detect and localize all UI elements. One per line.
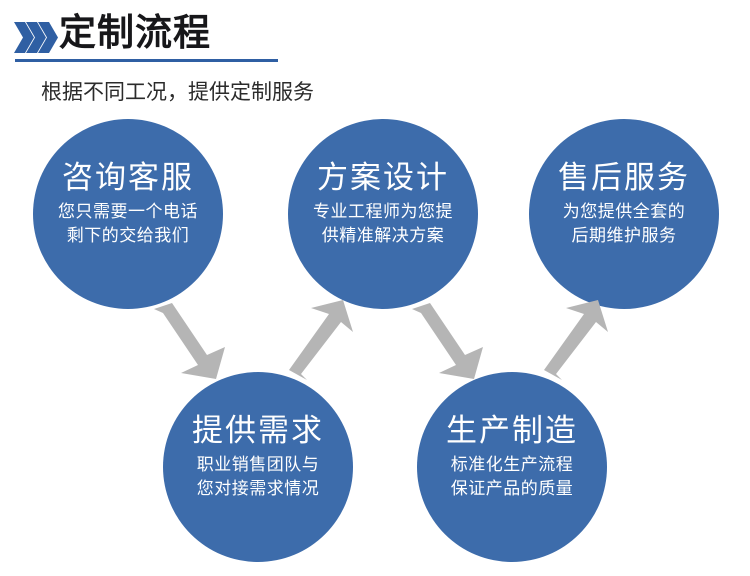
flow-step-desc-line: 标准化生产流程 (446, 453, 578, 477)
flow-step-desc-line: 您对接需求情况 (192, 477, 324, 501)
flow-step-content: 方案设计 专业工程师为您提 供精准解决方案 (313, 159, 453, 248)
flow-step-title: 生产制造 (446, 412, 578, 450)
flow-step-content: 提供需求 职业销售团队与 您对接需求情况 (192, 412, 324, 501)
page-title: 定制流程 (59, 9, 211, 57)
arrow-down-right-icon (408, 303, 488, 384)
section-header: 定制流程 根据不同工况，提供定制服务 (0, 0, 750, 112)
flow-step-title: 咨询客服 (58, 159, 198, 197)
flow-step-scheme-design[interactable]: 方案设计 专业工程师为您提 供精准解决方案 (288, 119, 478, 309)
title-underline (15, 59, 278, 62)
flow-step-desc-line: 为您提供全套的 (558, 200, 690, 224)
flow-step-desc-line: 职业销售团队与 (192, 453, 324, 477)
flow-step-title: 提供需求 (192, 412, 324, 450)
infographic-canvas: 定制流程 根据不同工况，提供定制服务 咨询客服 您只需要一个电话 剩下的交给我们… (0, 0, 750, 576)
arrow-up-right-icon (285, 300, 365, 385)
flow-step-production-manufacturing[interactable]: 生产制造 标准化生产流程 保证产品的质量 (417, 372, 607, 562)
flow-step-title: 售后服务 (558, 159, 690, 197)
flow-step-desc-line: 您只需要一个电话 (58, 200, 198, 224)
flow-step-desc-line: 专业工程师为您提 (313, 200, 453, 224)
page-subtitle: 根据不同工况，提供定制服务 (41, 78, 314, 108)
flow-step-title: 方案设计 (313, 159, 453, 197)
flow-step-content: 售后服务 为您提供全套的 后期维护服务 (558, 159, 690, 248)
arrow-down-right-icon (150, 303, 230, 384)
triple-chevron-icon (14, 21, 58, 54)
flow-step-desc-line: 后期维护服务 (558, 224, 690, 248)
flow-step-desc-line: 保证产品的质量 (446, 477, 578, 501)
flow-step-content: 咨询客服 您只需要一个电话 剩下的交给我们 (58, 159, 198, 248)
arrow-up-right-icon (540, 300, 620, 385)
flow-step-desc-line: 剩下的交给我们 (58, 224, 198, 248)
flow-step-consult-service[interactable]: 咨询客服 您只需要一个电话 剩下的交给我们 (33, 119, 223, 309)
flow-step-provide-requirements[interactable]: 提供需求 职业销售团队与 您对接需求情况 (163, 372, 353, 562)
flow-step-content: 生产制造 标准化生产流程 保证产品的质量 (446, 412, 578, 501)
flow-step-desc-line: 供精准解决方案 (313, 224, 453, 248)
flow-step-after-sales-service[interactable]: 售后服务 为您提供全套的 后期维护服务 (529, 119, 719, 309)
